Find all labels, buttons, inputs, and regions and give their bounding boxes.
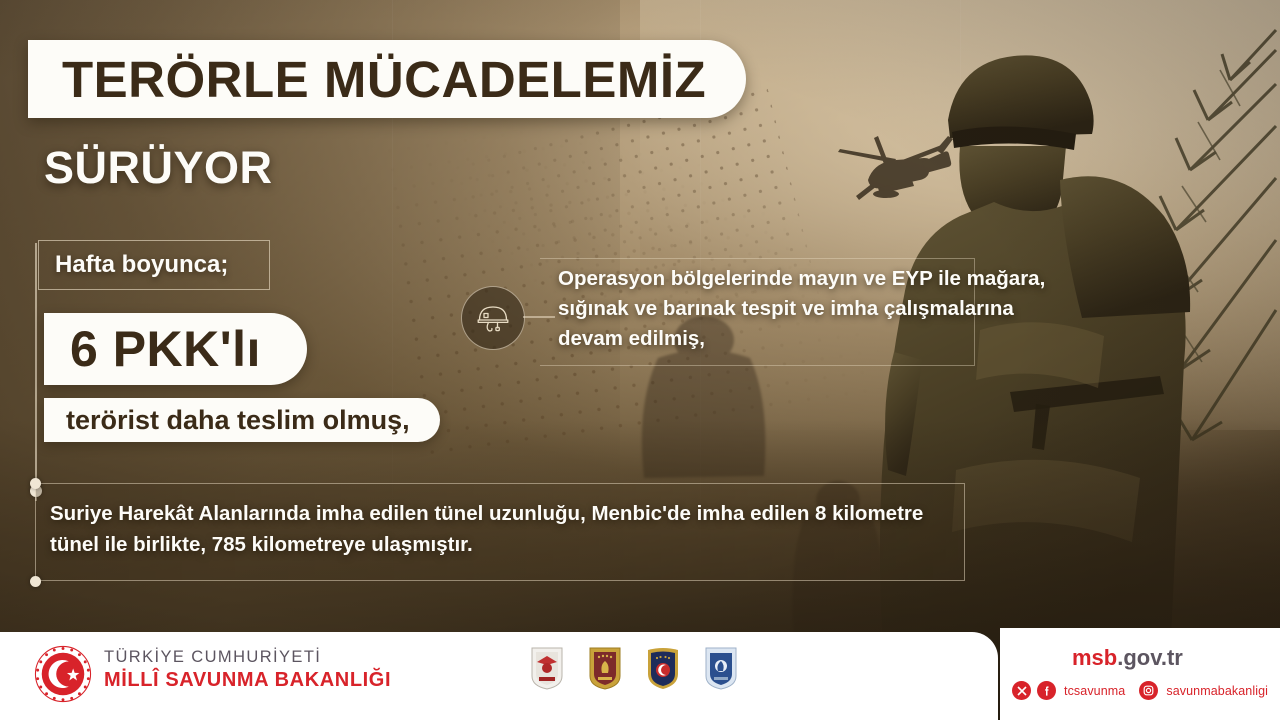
facebook-icon[interactable] [1037, 681, 1056, 700]
turkish-general-staff-emblem [646, 646, 680, 690]
instagram-icon[interactable] [1139, 681, 1158, 700]
stat-value-text: 6 PKK'lı [70, 320, 261, 378]
social-links: tcsavunma savunmabakanligi [1012, 681, 1276, 700]
ministry-line-1: TÜRKİYE CUMHURİYETİ [104, 648, 391, 667]
footer-web-panel [1000, 628, 1280, 720]
turkish-naval-forces-emblem [704, 646, 738, 690]
bottom-box-corner-dot-top [30, 478, 41, 489]
ministry-seal-icon [34, 645, 92, 703]
stat-caption-pill: terörist daha teslim olmuş, [44, 398, 440, 442]
military-helmet-icon [476, 303, 510, 333]
left-connector-line [35, 243, 37, 501]
website-domain: .gov.tr [1117, 645, 1183, 670]
page-title: TERÖRLE MÜCADELEMİZ [28, 40, 746, 118]
branch-emblems [530, 646, 738, 690]
stat-value-pill: 6 PKK'lı [44, 313, 307, 385]
x-icon[interactable] [1012, 681, 1031, 700]
ministry-wordmark: TÜRKİYE CUMHURİYETİ MİLLÎ SAVUNMA BAKANL… [104, 648, 391, 692]
website-url[interactable]: msb.gov.tr [1072, 645, 1183, 671]
ministry-line-2: MİLLÎ SAVUNMA BAKANLIĞI [104, 669, 391, 692]
page-title-text: TERÖRLE MÜCADELEMİZ [62, 50, 706, 109]
instagram-handle: savunmabakanligi [1166, 684, 1268, 698]
turkish-land-forces-emblem [530, 646, 564, 690]
operation-note-wrap: Operasyon bölgelerinde mayın ve EYP ile … [558, 264, 1068, 354]
stat-caption-text: terörist daha teslim olmuş, [66, 405, 410, 436]
infographic-poster: TERÖRLE MÜCADELEMİZ SÜRÜYOR Hafta boyunc… [0, 0, 1280, 720]
page-subtitle: SÜRÜYOR [44, 142, 273, 194]
bottom-box-corner-dot-bottom [30, 576, 41, 587]
website-brand: msb [1072, 645, 1117, 670]
operation-note-text: Operasyon bölgelerinde mayın ve EYP ile … [558, 264, 1068, 354]
intro-label-box: Hafta boyunca; [38, 240, 270, 290]
x-facebook-handle: tcsavunma [1064, 684, 1125, 698]
intro-label-text: Hafta boyunca; [55, 251, 228, 279]
bottom-note-text: Suriye Harekât Alanlarında imha edilen t… [50, 498, 960, 560]
turkish-gendarmerie-emblem [588, 646, 622, 690]
helmet-icon-node [461, 286, 525, 350]
bottom-note-box: Suriye Harekât Alanlarında imha edilen t… [35, 483, 965, 581]
